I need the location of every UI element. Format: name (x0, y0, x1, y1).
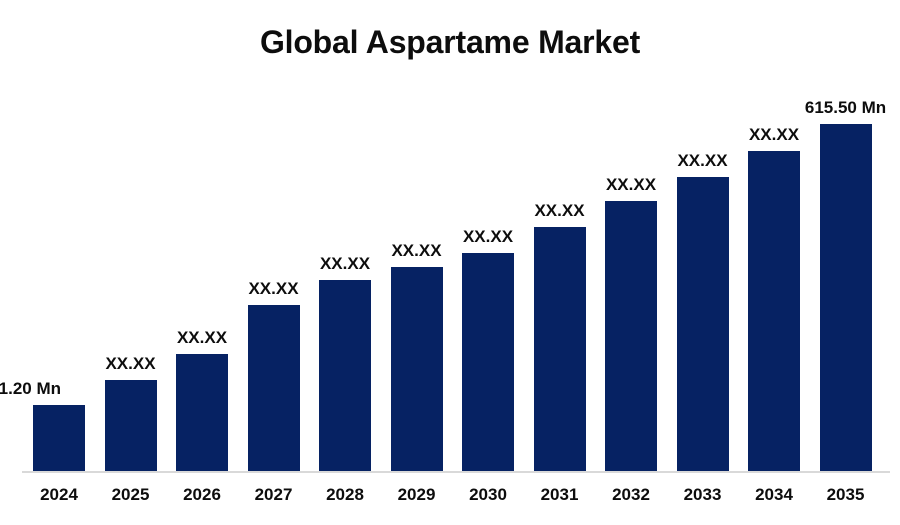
bar-value-label-2034: XX.XX (718, 125, 830, 145)
bar-group-2026[interactable]: XX.XX (176, 0, 228, 525)
bar-2031[interactable] (534, 227, 586, 471)
bar-2030[interactable] (462, 253, 514, 471)
bar-2032[interactable] (605, 201, 657, 471)
bar-group-2033[interactable]: XX.XX (677, 0, 729, 525)
bar-value-label-2033: XX.XX (647, 151, 759, 171)
bar-2035[interactable] (820, 124, 872, 471)
bar-group-2030[interactable]: XX.XX (462, 0, 514, 525)
bar-2026[interactable] (176, 354, 228, 471)
bar-value-label-2024: 421.20 Mn (0, 379, 61, 399)
bar-group-2028[interactable]: XX.XX (319, 0, 371, 525)
x-tick-label-2035: 2035 (800, 484, 892, 506)
bar-2034[interactable] (748, 151, 800, 471)
bar-group-2035[interactable]: 615.50 Mn (820, 0, 872, 525)
bar-value-label-2030: XX.XX (432, 227, 544, 247)
bar-value-label-2035: 615.50 Mn (790, 98, 900, 118)
bar-2024[interactable] (33, 405, 85, 471)
bar-group-2024[interactable]: 421.20 Mn (33, 0, 85, 525)
bar-value-label-2027: XX.XX (218, 279, 330, 299)
plot-area: 421.20 Mn2024XX.XX2025XX.XX2026XX.XX2027… (0, 0, 900, 525)
bar-value-label-2031: XX.XX (504, 201, 616, 221)
bar-group-2031[interactable]: XX.XX (534, 0, 586, 525)
bar-value-label-2025: XX.XX (75, 354, 187, 374)
bar-2027[interactable] (248, 305, 300, 471)
bar-group-2029[interactable]: XX.XX (391, 0, 443, 525)
bar-2033[interactable] (677, 177, 729, 471)
bar-group-2025[interactable]: XX.XX (105, 0, 157, 525)
bar-2029[interactable] (391, 267, 443, 471)
bar-2028[interactable] (319, 280, 371, 471)
bar-group-2032[interactable]: XX.XX (605, 0, 657, 525)
bar-value-label-2032: XX.XX (575, 175, 687, 195)
bar-value-label-2026: XX.XX (146, 328, 258, 348)
bar-2025[interactable] (105, 380, 157, 471)
bar-group-2034[interactable]: XX.XX (748, 0, 800, 525)
chart-container: Global Aspartame Market 421.20 Mn2024XX.… (0, 0, 900, 525)
